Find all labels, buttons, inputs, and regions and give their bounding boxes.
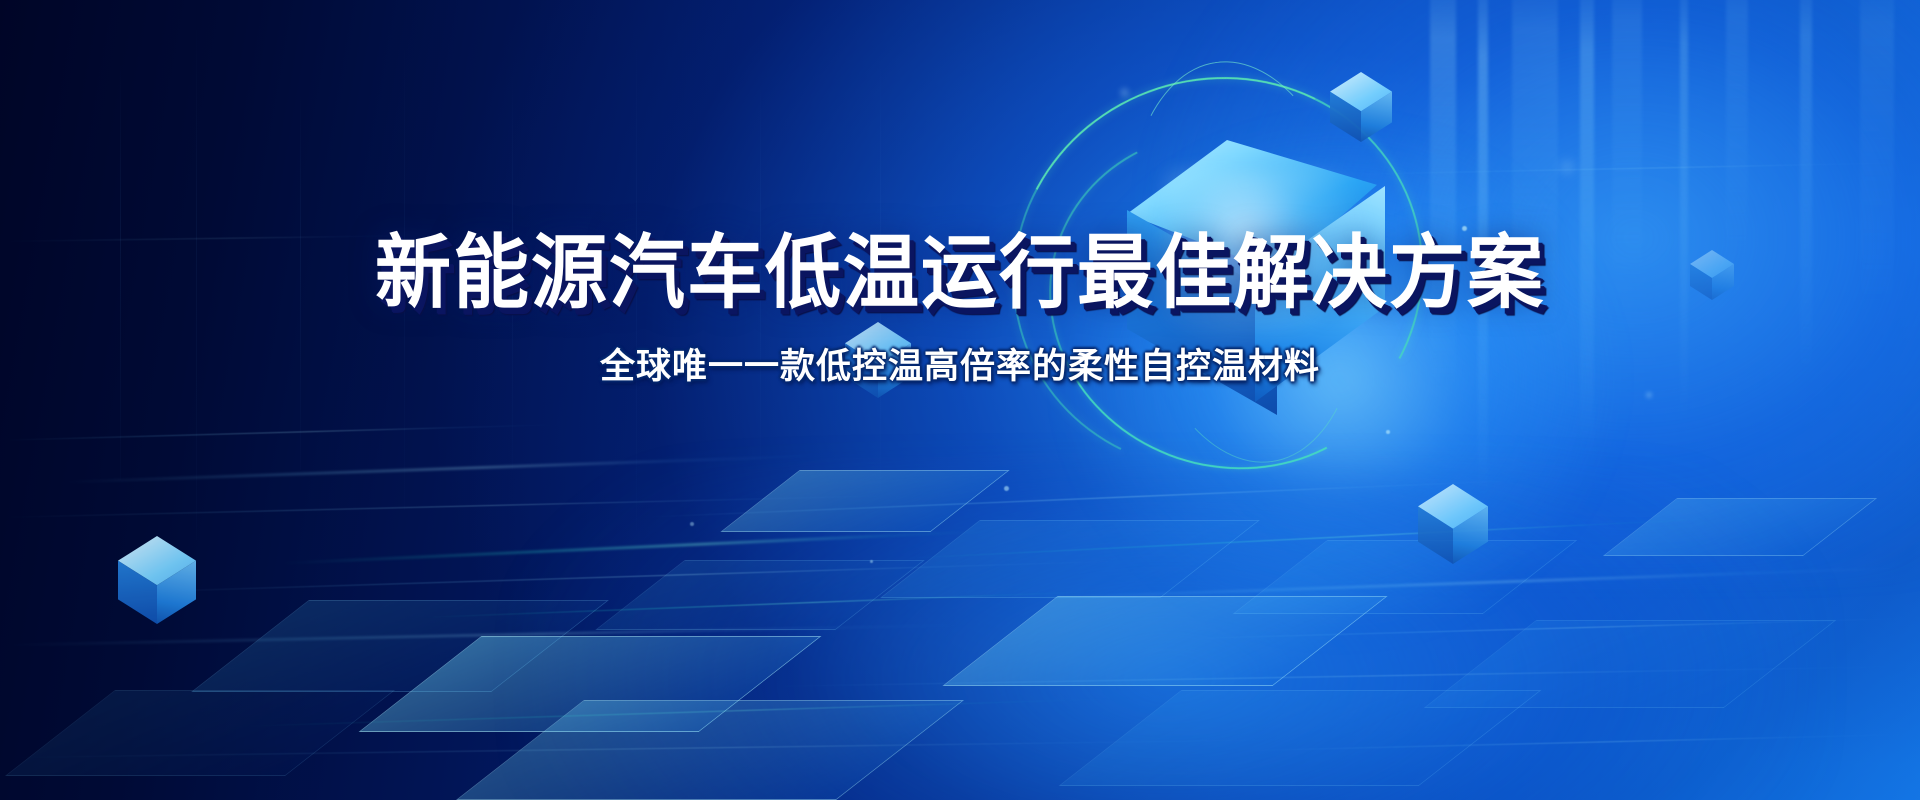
mini-cube-bottom-left bbox=[118, 536, 196, 624]
banner-subheadline: 全球唯一一款低控温高倍率的柔性自控温材料 bbox=[0, 338, 1920, 389]
mini-cube-top-right bbox=[1330, 72, 1392, 142]
banner-text-block: 新能源汽车低温运行最佳解决方案 全球唯一一款低控温高倍率的柔性自控温材料 bbox=[0, 236, 1920, 389]
mini-cube-right bbox=[1418, 484, 1488, 564]
hero-banner: 新能源汽车低温运行最佳解决方案 全球唯一一款低控温高倍率的柔性自控温材料 bbox=[0, 0, 1920, 800]
banner-headline: 新能源汽车低温运行最佳解决方案 bbox=[0, 234, 1920, 315]
